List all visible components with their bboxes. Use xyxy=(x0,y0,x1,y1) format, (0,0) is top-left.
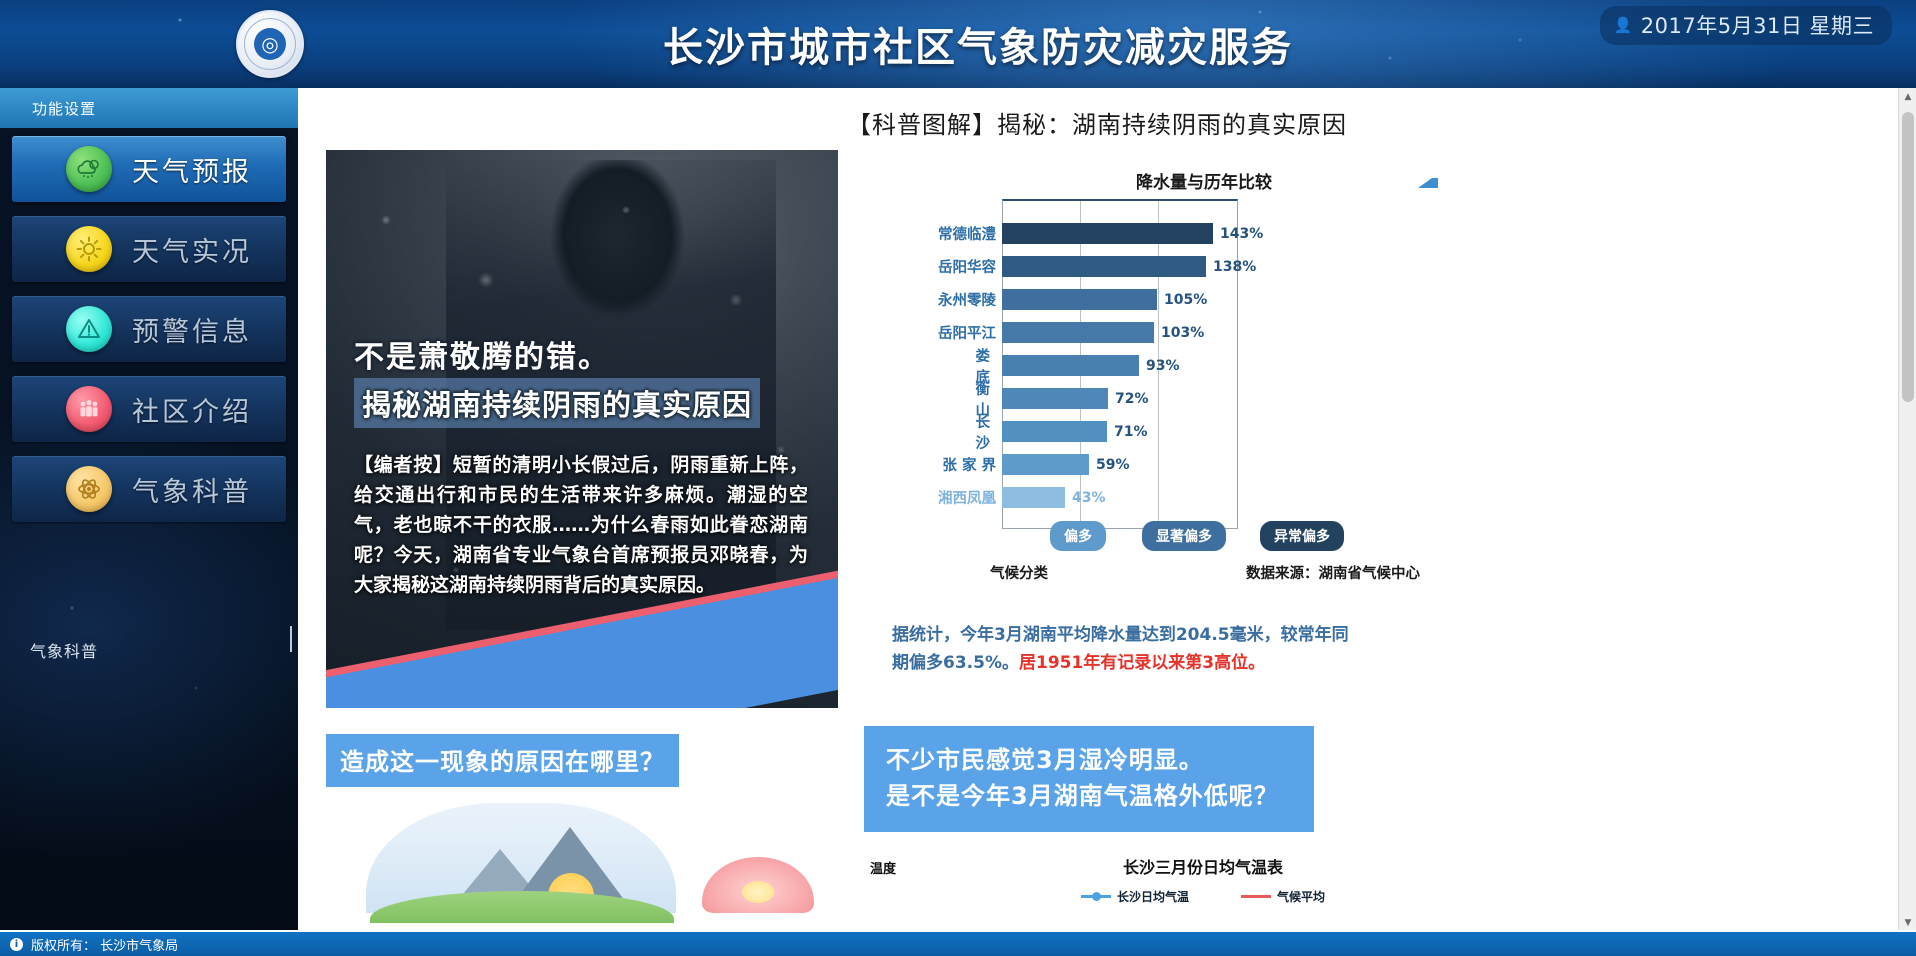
sidebar-caption: 气象科普 xyxy=(30,638,98,662)
section-heading-temperature: 不少市民感觉3月湿冷明显。 是不是今年3月湖南气温格外低呢？ xyxy=(864,726,1314,832)
summary-highlight: 居1951年有记录以来第3高位。 xyxy=(1019,653,1265,673)
heading-line-2: 是不是今年3月湖南气温格外低呢？ xyxy=(886,778,1292,814)
bar-category-label: 常德临澧 xyxy=(932,223,1002,244)
bar-category-label: 岳阳平江 xyxy=(932,322,1002,343)
content-row-bottom: 造成这一现象的原因在哪里？ 不少市民感觉3月湿冷明显。 是不是今年3月湖南气温格… xyxy=(298,708,1896,923)
poster-body-text: 【编者按】短暂的清明小长假过后，阴雨重新上阵，给交通出行和市民的生活带来许多麻烦… xyxy=(354,450,808,600)
chart-legend: 偏多 显著偏多 异常偏多 xyxy=(1002,518,1382,554)
chart-plot-area: 常德临澧 143% 岳阳华容 138% 永州零陵 xyxy=(932,199,1442,583)
chart-bars: 常德临澧 143% 岳阳华容 138% 永州零陵 xyxy=(932,199,1442,514)
bar-rect xyxy=(1002,289,1157,310)
poster-headline-primary: 不是萧敬腾的错。 xyxy=(354,332,610,376)
bar-category-label: 张 家 界 xyxy=(932,454,1002,475)
sidebar-resize-handle[interactable] xyxy=(290,626,292,652)
page-footer: i 版权所有： 长沙市气象局 xyxy=(0,932,1916,956)
legend-label: 长沙日均气温 xyxy=(1117,888,1189,905)
warning-triangle-icon xyxy=(66,306,112,352)
poster-headline-secondary: 揭秘湖南持续阴雨的真实原因 xyxy=(354,378,760,428)
bar-value-label: 138% xyxy=(1213,259,1256,275)
bar-rect xyxy=(1002,256,1206,277)
chart-bar-row: 常德临澧 143% xyxy=(932,217,1442,250)
corner-triangle-icon xyxy=(1418,178,1438,188)
sidebar-item-live-weather[interactable]: 天气实况 xyxy=(12,216,286,282)
main-content: 【科普图解】揭秘：湖南持续阴雨的真实原因 不是萧敬腾的错。 揭秘湖南持续阴雨的真… xyxy=(298,88,1896,932)
chart2-title: 长沙三月份日均气温表 xyxy=(968,854,1438,878)
sidebar: 功能设置 天气预报 xyxy=(0,88,298,956)
chart-bar-row: 娄 底 93% xyxy=(932,349,1442,382)
chart-bar-row: 岳阳华容 138% xyxy=(932,250,1442,283)
legend-item-slightly-more[interactable]: 偏多 xyxy=(1050,521,1106,551)
scroll-up-arrow-icon[interactable]: ▲ xyxy=(1899,88,1916,106)
chart-title: 降水量与历年比较 xyxy=(969,168,1439,193)
sidebar-item-label: 天气实况 xyxy=(132,230,252,269)
bar-rect xyxy=(1002,322,1154,343)
bar-rect xyxy=(1002,421,1107,442)
line-swatch-blue-icon xyxy=(1081,895,1111,898)
sidebar-item-label: 社区介绍 xyxy=(132,390,252,429)
line-swatch-red-icon xyxy=(1241,895,1271,898)
page-header: ◎ 长沙市城市社区气象防灾减灾服务 👤 2017年5月31日 星期三 xyxy=(0,0,1916,88)
logo-emblem-icon: ◎ xyxy=(254,28,286,60)
main-scrollbar[interactable]: ▲ ▼ xyxy=(1898,88,1916,932)
page-title: 【科普图解】揭秘：湖南持续阴雨的真实原因 xyxy=(298,88,1896,150)
sidebar-item-weather-forecast[interactable]: 天气预报 xyxy=(12,136,286,202)
chart-bar-row: 长 沙 71% xyxy=(932,415,1442,448)
cloud-sun-icon xyxy=(66,146,112,192)
chart-source-note: 数据来源：湖南省气候中心 xyxy=(1246,562,1420,583)
legend-item-abnormally-more[interactable]: 异常偏多 xyxy=(1260,521,1344,551)
legend-item-significantly-more[interactable]: 显著偏多 xyxy=(1142,521,1226,551)
people-group-icon xyxy=(66,386,112,432)
flower-illustration xyxy=(698,843,818,923)
bar-category-label: 长 沙 xyxy=(932,411,1002,453)
sidebar-item-weather-science[interactable]: 气象科普 xyxy=(12,456,286,522)
sidebar-item-community-intro[interactable]: 社区介绍 xyxy=(12,376,286,442)
illustration-landscape xyxy=(326,803,838,923)
temperature-chart: 温度 长沙三月份日均气温表 长沙日均气温 气候平均 xyxy=(864,854,1868,905)
chart-bar-row: 岳阳平江 103% xyxy=(932,316,1442,349)
agency-logo: ◎ xyxy=(236,10,304,78)
copyright-text: 版权所有： 长沙市气象局 xyxy=(31,935,178,954)
right-column-bottom: 不少市民感觉3月湿冷明显。 是不是今年3月湖南气温格外低呢？ 温度 长沙三月份日… xyxy=(864,726,1868,923)
chart2-legend-item-average: 气候平均 xyxy=(1241,888,1325,905)
bar-value-label: 71% xyxy=(1114,424,1148,440)
bar-value-label: 43% xyxy=(1072,490,1106,506)
chart-footer: 气候分类 数据来源：湖南省气候中心 xyxy=(990,562,1420,583)
chart-x-axis-label: 气候分类 xyxy=(990,562,1048,583)
scrollbar-thumb[interactable] xyxy=(1902,112,1914,402)
chart2-legend: 长沙日均气温 气候平均 xyxy=(968,888,1438,905)
bar-category-label: 永州零陵 xyxy=(932,289,1002,310)
bar-rect xyxy=(1002,454,1089,475)
sidebar-menu: 天气预报 天气实况 xyxy=(0,128,298,522)
sidebar-item-warning-info[interactable]: 预警信息 xyxy=(12,296,286,362)
chart2-y-axis-label: 温度 xyxy=(870,858,896,877)
info-icon: i xyxy=(10,938,23,951)
atom-icon xyxy=(66,466,112,512)
section-heading-cause: 造成这一现象的原因在哪里？ xyxy=(326,734,679,787)
chart-bar-row: 湘西凤凰 43% xyxy=(932,481,1442,514)
precipitation-chart-card: 降水量与历年比较 常德临澧 143% 岳阳华容 138% xyxy=(864,150,1868,708)
bar-rect xyxy=(1002,223,1213,244)
site-title: 长沙市城市社区气象防灾减灾服务 xyxy=(663,15,1293,73)
sidebar-item-label: 天气预报 xyxy=(132,150,252,189)
chart2-legend-item-daily: 长沙日均气温 xyxy=(1081,888,1189,905)
bar-rect xyxy=(1002,388,1108,409)
date-text: 2017年5月31日 星期三 xyxy=(1641,10,1874,40)
sidebar-item-label: 气象科普 xyxy=(132,470,252,509)
chart-bar-row: 衡 山 72% xyxy=(932,382,1442,415)
bar-category-label: 岳阳华容 xyxy=(932,256,1002,277)
bar-value-label: 59% xyxy=(1096,457,1130,473)
article-poster-image: 不是萧敬腾的错。 揭秘湖南持续阴雨的真实原因 【编者按】短暂的清明小长假过后，阴… xyxy=(326,150,838,708)
sun-icon xyxy=(66,226,112,272)
bar-value-label: 72% xyxy=(1115,391,1149,407)
chart-bar-row: 张 家 界 59% xyxy=(932,448,1442,481)
application-root: ◎ 长沙市城市社区气象防灾减灾服务 👤 2017年5月31日 星期三 功能设置 xyxy=(0,0,1916,956)
bar-value-label: 93% xyxy=(1146,358,1180,374)
left-column-bottom: 造成这一现象的原因在哪里？ xyxy=(326,726,838,923)
date-display: 👤 2017年5月31日 星期三 xyxy=(1600,6,1892,45)
legend-label: 气候平均 xyxy=(1277,888,1325,905)
bar-rect xyxy=(1002,487,1065,508)
heading-line-1: 不少市民感觉3月湿冷明显。 xyxy=(886,742,1292,778)
sidebar-panel-title: 功能设置 xyxy=(0,88,298,128)
chart-bar-row: 永州零陵 105% xyxy=(932,283,1442,316)
bar-category-label: 湘西凤凰 xyxy=(932,487,1002,508)
bar-rect xyxy=(1002,355,1139,376)
statistics-summary: 据统计，今年3月湖南平均降水量达到204.5毫米，较常年同期偏多63.5%。居1… xyxy=(892,621,1362,677)
content-row-top: 不是萧敬腾的错。 揭秘湖南持续阴雨的真实原因 【编者按】短暂的清明小长假过后，阴… xyxy=(298,150,1896,708)
bar-value-label: 105% xyxy=(1164,292,1207,308)
bar-value-label: 103% xyxy=(1161,325,1204,341)
user-icon: 👤 xyxy=(1614,16,1633,34)
bar-value-label: 143% xyxy=(1220,226,1263,242)
sidebar-item-label: 预警信息 xyxy=(132,310,252,349)
